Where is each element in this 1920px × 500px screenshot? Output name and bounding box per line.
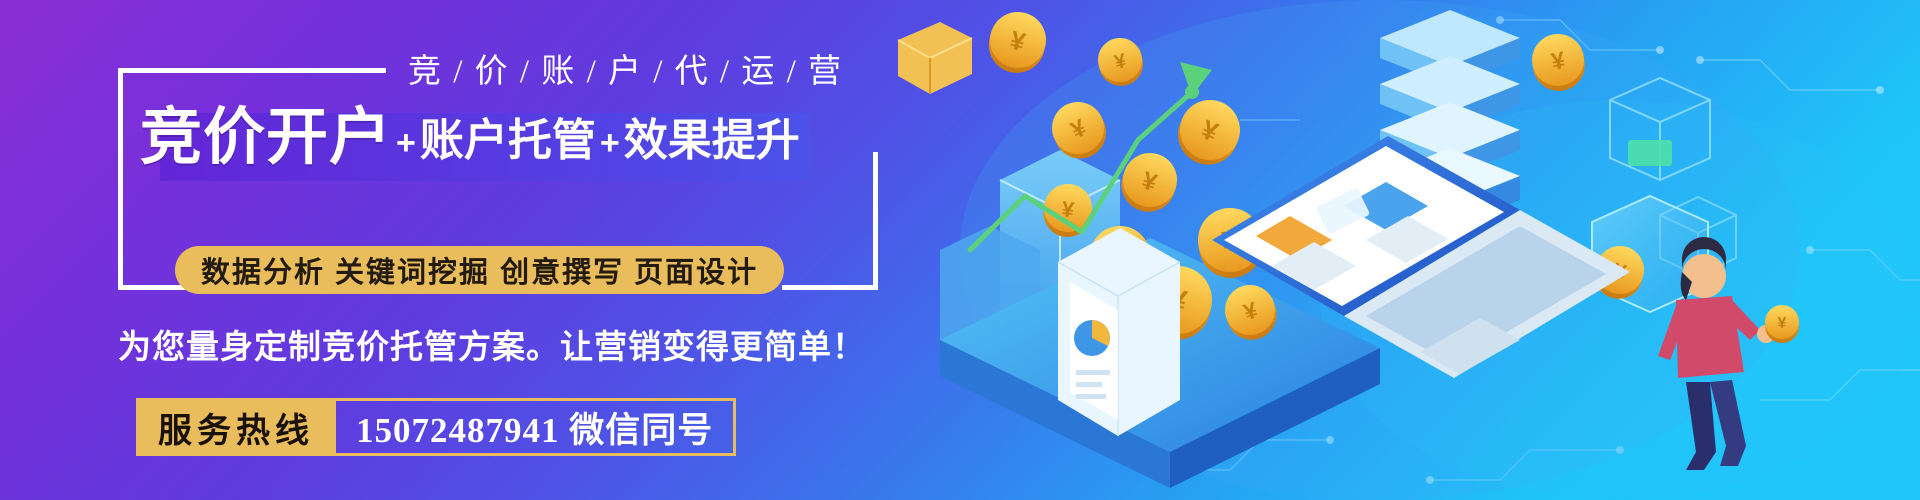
gold-bar-icon [898,22,972,94]
svg-text:¥: ¥ [1778,315,1787,332]
features-pill: 数据分析 关键词挖掘 创意撰写 页面设计 [175,246,784,294]
copy-block: 竞 / 价 / 账 / 户 / 代 / 运 / 营 竞价开户 + 账户托管 + … [0,0,900,500]
green-chip-icon [1628,140,1672,166]
hotline-number[interactable]: 15072487941 微信同号 [336,398,736,456]
headline-part-2: 账户托管 [420,119,596,163]
description-text: 为您量身定制竞价托管方案。让营销变得更简单！ [118,320,866,368]
features-pill-label: 数据分析 关键词挖掘 创意撰写 页面设计 [201,249,758,291]
hotline-label: 服务热线 [136,398,336,456]
headline-plus-1: + [392,126,420,160]
hero-illustration: ¥ ¥ ¥ ¥ ¥ [820,0,1920,500]
headline: 竞价开户 + 账户托管 + 效果提升 [140,107,800,169]
smartphone-icon [1058,228,1180,436]
promo-banner: ¥ ¥ ¥ ¥ ¥ [0,0,1920,500]
headline-plus-2: + [596,126,624,160]
headline-part-3: 效果提升 [624,119,800,163]
headline-main: 竞价开户 [140,107,392,169]
tagline: 竞 / 价 / 账 / 户 / 代 / 运 / 营 [408,44,843,92]
hotline-bar: 服务热线 15072487941 微信同号 [136,398,736,456]
